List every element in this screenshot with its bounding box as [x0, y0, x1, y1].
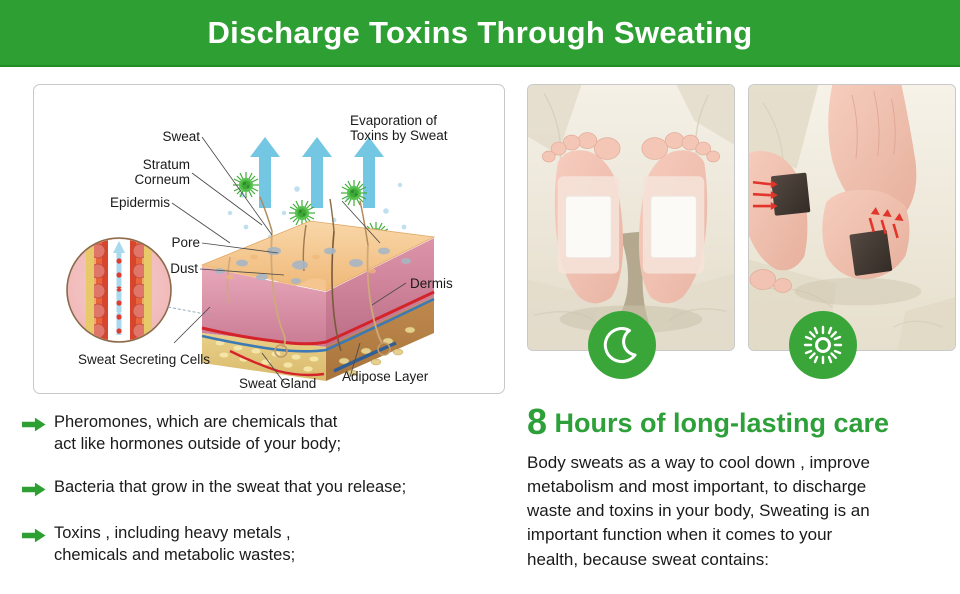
skin-block-3d [202, 197, 434, 381]
body-line-3: waste and toxins in your body, Sweating … [527, 499, 952, 523]
label-stratum-corneum-2: Corneum [134, 172, 190, 187]
list-item-line-2: chemicals and metabolic wastes; [54, 545, 295, 567]
page-header-banner: Discharge Toxins Through Sweating [0, 0, 960, 67]
body-line-2: metabolism and most important, to discha… [527, 475, 952, 499]
list-item: Bacteria that grow in the sweat that you… [22, 477, 512, 502]
label-stratum-corneum-1: Stratum [143, 157, 190, 172]
body-line-4: important function when it comes to your [527, 523, 952, 547]
hours-number: 8 [527, 401, 547, 442]
moon-icon [602, 325, 642, 365]
list-item-line-1: Pheromones, which are chemicals that [54, 412, 341, 434]
body-line-5: health, because sweat contains: [527, 548, 952, 572]
skin-cross-section-diagram: Sweat Stratum Corneum Epidermis Pore Dus… [34, 85, 505, 394]
feet-with-used-detox-patches-photo [748, 84, 956, 351]
label-evaporation-1: Evaporation of [350, 113, 437, 128]
label-pore: Pore [171, 235, 200, 250]
label-dust: Dust [170, 261, 198, 276]
long-lasting-care-block: 8 Hours of long-lasting care Body sweats… [527, 404, 952, 572]
label-sweat-secreting-cells: Sweat Secreting Cells [78, 352, 210, 367]
label-sweat: Sweat [162, 129, 200, 144]
label-dermis: Dermis [410, 276, 453, 291]
page-title: Discharge Toxins Through Sweating [208, 15, 753, 51]
day-badge [789, 311, 857, 379]
label-epidermis: Epidermis [110, 195, 170, 210]
green-arrow-icon [22, 477, 54, 502]
night-badge [588, 311, 656, 379]
sun-icon [803, 325, 843, 365]
hours-heading-rest: Hours of long-lasting care [547, 408, 889, 438]
list-item-text: Pheromones, which are chemicals that act… [54, 412, 341, 456]
photo-feet-patches-morning [749, 85, 955, 350]
list-item-line-1: Toxins , including heavy metals , [54, 523, 295, 545]
list-item: Toxins , including heavy metals , chemic… [22, 523, 512, 567]
green-arrow-icon [22, 412, 54, 437]
label-sweat-gland: Sweat Gland [239, 376, 316, 391]
sweat-gland-magnifier-inset [67, 235, 210, 347]
label-adipose-layer: Adipose Layer [342, 369, 429, 384]
body-line-1: Body sweats as a way to cool down , impr… [527, 451, 952, 475]
list-item-line-1: Bacteria that grow in the sweat that you… [54, 477, 406, 499]
green-arrow-icon [22, 523, 54, 548]
list-item: Pheromones, which are chemicals that act… [22, 412, 512, 456]
feet-with-fresh-detox-patches-photo [527, 84, 735, 351]
benefits-bullet-list: Pheromones, which are chemicals that act… [22, 412, 512, 588]
skin-diagram-panel: Sweat Stratum Corneum Epidermis Pore Dus… [33, 84, 505, 394]
list-item-text: Toxins , including heavy metals , chemic… [54, 523, 295, 567]
hours-heading: 8 Hours of long-lasting care [527, 404, 952, 440]
photo-feet-patches-night [528, 85, 734, 350]
list-item-text: Bacteria that grow in the sweat that you… [54, 477, 406, 499]
label-evaporation-2: Toxins by Sweat [350, 128, 448, 143]
body-paragraph: Body sweats as a way to cool down , impr… [527, 451, 952, 572]
list-item-line-2: act like hormones outside of your body; [54, 434, 341, 456]
